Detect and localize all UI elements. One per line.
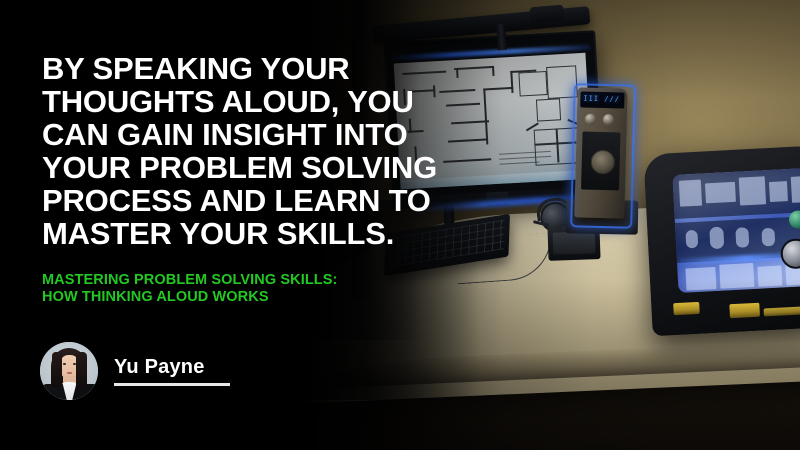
- headline-line: YOUR PROBLEM SOLVING: [42, 151, 462, 184]
- avatar: [40, 342, 98, 400]
- promo-banner: III ///: [0, 0, 800, 450]
- headline-line: PROCESS AND LEARN TO: [42, 184, 462, 217]
- avatar-mouth: [67, 372, 72, 374]
- author-name-underline: [114, 383, 230, 386]
- subheading: MASTERING PROBLEM SOLVING SKILLS: HOW TH…: [42, 272, 462, 306]
- subheading-line: HOW THINKING ALOUD WORKS: [42, 289, 462, 306]
- page-title: BY SPEAKING YOUR THOUGHTS ALOUD, YOU CAN…: [42, 52, 462, 250]
- byline-text: Yu Payne: [114, 356, 230, 386]
- avatar-eye-left: [63, 363, 66, 365]
- author-byline: Yu Payne: [40, 342, 230, 400]
- avatar-hair-strand-left: [52, 352, 62, 388]
- headline-line: MASTER YOUR SKILLS.: [42, 217, 462, 250]
- headline-line: THOUGHTS ALOUD, YOU: [42, 85, 462, 118]
- headline-line: BY SPEAKING YOUR: [42, 52, 462, 85]
- author-name: Yu Payne: [114, 356, 230, 378]
- avatar-hair-strand-right: [76, 352, 87, 390]
- text-content: BY SPEAKING YOUR THOUGHTS ALOUD, YOU CAN…: [42, 52, 462, 306]
- subheading-line: MASTERING PROBLEM SOLVING SKILLS:: [42, 272, 462, 289]
- headline-line: CAN GAIN INSIGHT INTO: [42, 118, 462, 151]
